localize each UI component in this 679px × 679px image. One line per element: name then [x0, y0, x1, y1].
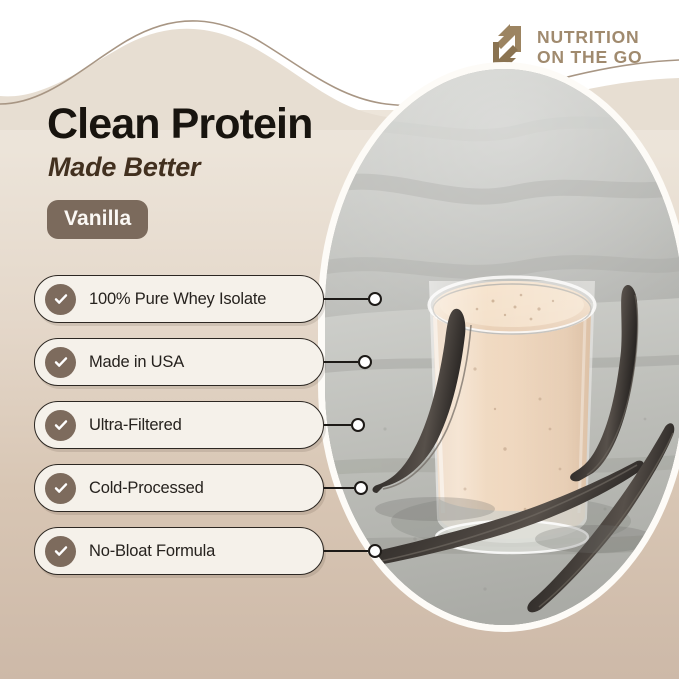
connector-dot	[351, 418, 365, 432]
page-subtitle: Made Better	[48, 152, 200, 183]
connector-line	[324, 298, 368, 300]
feature-label: No-Bloat Formula	[89, 542, 215, 561]
connector-dot	[354, 481, 368, 495]
page-title: Clean Protein	[47, 100, 312, 148]
list-item[interactable]: Ultra-Filtered	[34, 401, 324, 453]
flavor-badge: Vanilla	[47, 200, 148, 239]
feature-pill[interactable]: Cold-Processed	[34, 464, 324, 512]
connector-line	[324, 424, 351, 426]
list-item[interactable]: No-Bloat Formula	[34, 527, 324, 579]
shake-scene-illustration	[325, 69, 679, 625]
product-infographic: NUTRITION ON THE GO Clean Protein Made B…	[0, 0, 679, 679]
feature-pill[interactable]: No-Bloat Formula	[34, 527, 324, 575]
feature-label: Cold-Processed	[89, 479, 204, 498]
brand-line-1: NUTRITION	[537, 27, 639, 47]
feature-label: Ultra-Filtered	[89, 416, 182, 435]
feature-label: Made in USA	[89, 353, 184, 372]
connector-line	[324, 487, 354, 489]
feature-label: 100% Pure Whey Isolate	[89, 290, 266, 309]
check-circle-icon	[45, 410, 76, 441]
connector-line	[324, 361, 358, 363]
check-circle-icon	[45, 284, 76, 315]
brand-name: NUTRITION ON THE GO	[537, 27, 642, 67]
connector-dot	[358, 355, 372, 369]
connector-dot	[368, 544, 382, 558]
connector-line	[324, 550, 368, 552]
feature-pill[interactable]: Ultra-Filtered	[34, 401, 324, 449]
check-circle-icon	[45, 536, 76, 567]
check-circle-icon	[45, 347, 76, 378]
list-item[interactable]: 100% Pure Whey Isolate	[34, 275, 324, 327]
photo-frame	[325, 69, 679, 625]
connector-dot	[368, 292, 382, 306]
feature-list: 100% Pure Whey Isolate Made in USA	[34, 275, 324, 590]
list-item[interactable]: Made in USA	[34, 338, 324, 390]
list-item[interactable]: Cold-Processed	[34, 464, 324, 516]
feature-pill[interactable]: Made in USA	[34, 338, 324, 386]
check-circle-icon	[45, 473, 76, 504]
feature-pill[interactable]: 100% Pure Whey Isolate	[34, 275, 324, 323]
